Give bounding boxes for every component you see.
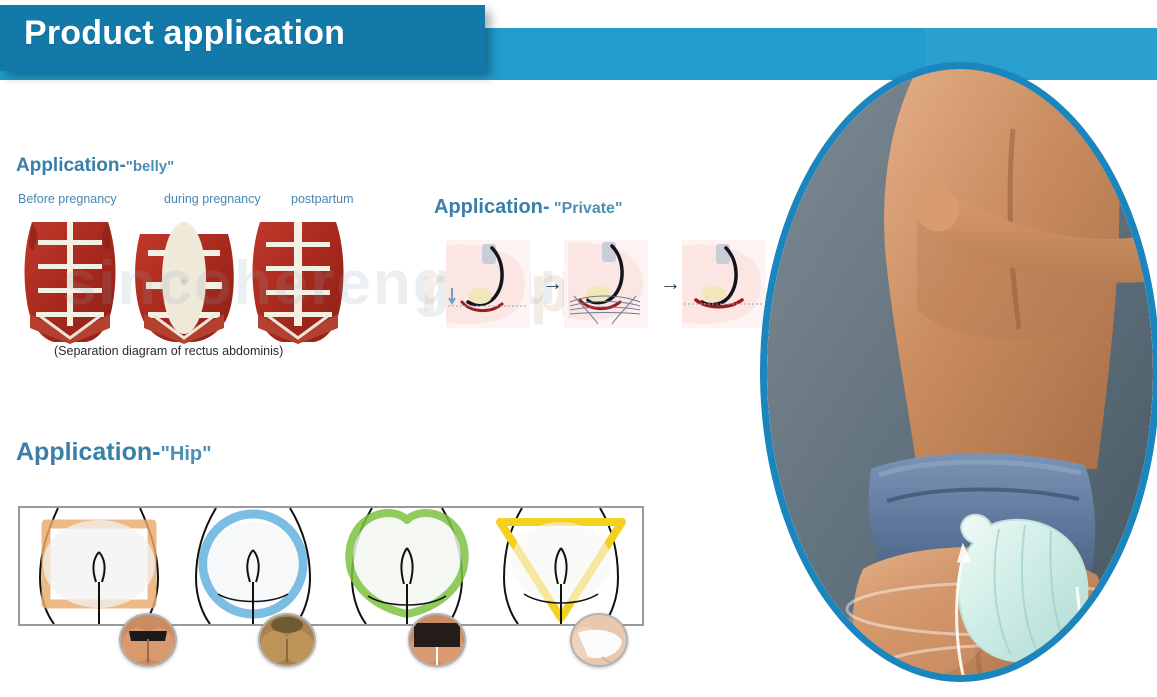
abdominis-diagram-postpartum — [246, 216, 350, 344]
heading-application-private: Application- "Private" — [434, 196, 623, 219]
belly-caption: (Separation diagram of rectus abdominis) — [54, 344, 283, 358]
heading-private-quoted: "Private" — [550, 200, 623, 217]
hero-photo-inner — [767, 69, 1153, 675]
hero-photo-circle — [760, 62, 1157, 682]
abdominis-diagram-before — [18, 216, 122, 344]
heading-application-hip: Application-"Hip" — [16, 438, 212, 467]
hip-shape-heart — [332, 508, 482, 624]
page-title: Product application — [24, 12, 345, 54]
pelvic-diagram-treatment — [564, 240, 648, 328]
abdominis-diagram-during — [132, 216, 236, 344]
hero-photo-illustration — [767, 69, 1153, 675]
pelvic-floor-diagrams: → → — [446, 240, 766, 328]
heading-belly-main: Application- — [16, 155, 126, 176]
hip-shape-triangle — [486, 508, 636, 624]
heading-hip-main: Application- — [16, 438, 160, 466]
hip-inset-photo-round — [258, 613, 316, 667]
pelvic-arrow-2: → — [660, 272, 681, 296]
hip-shape-panel — [18, 506, 644, 626]
pelvic-arrow-1: → — [542, 272, 563, 296]
heading-application-belly: Application-"belly" — [16, 155, 174, 177]
hip-shape-round — [178, 508, 328, 624]
belly-label-postpartum: postpartum — [291, 192, 354, 206]
hip-inset-photo-triangle — [570, 613, 628, 667]
belly-label-before: Before pregnancy — [18, 192, 117, 206]
hip-shape-square — [24, 508, 174, 624]
heading-belly-quoted: "belly" — [126, 158, 174, 175]
rectus-abdominis-diagrams — [14, 216, 354, 344]
pelvic-diagram-before — [446, 240, 530, 328]
pelvic-diagram-after — [682, 240, 766, 328]
hip-inset-photo-heart — [408, 613, 466, 667]
belly-stage-labels: Before pregnancy during pregnancy postpa… — [14, 192, 364, 210]
belly-label-during: during pregnancy — [164, 192, 261, 206]
heading-private-main: Application- — [434, 196, 550, 218]
heading-hip-quoted: "Hip" — [160, 443, 211, 465]
hip-inset-photo-square — [119, 613, 177, 667]
